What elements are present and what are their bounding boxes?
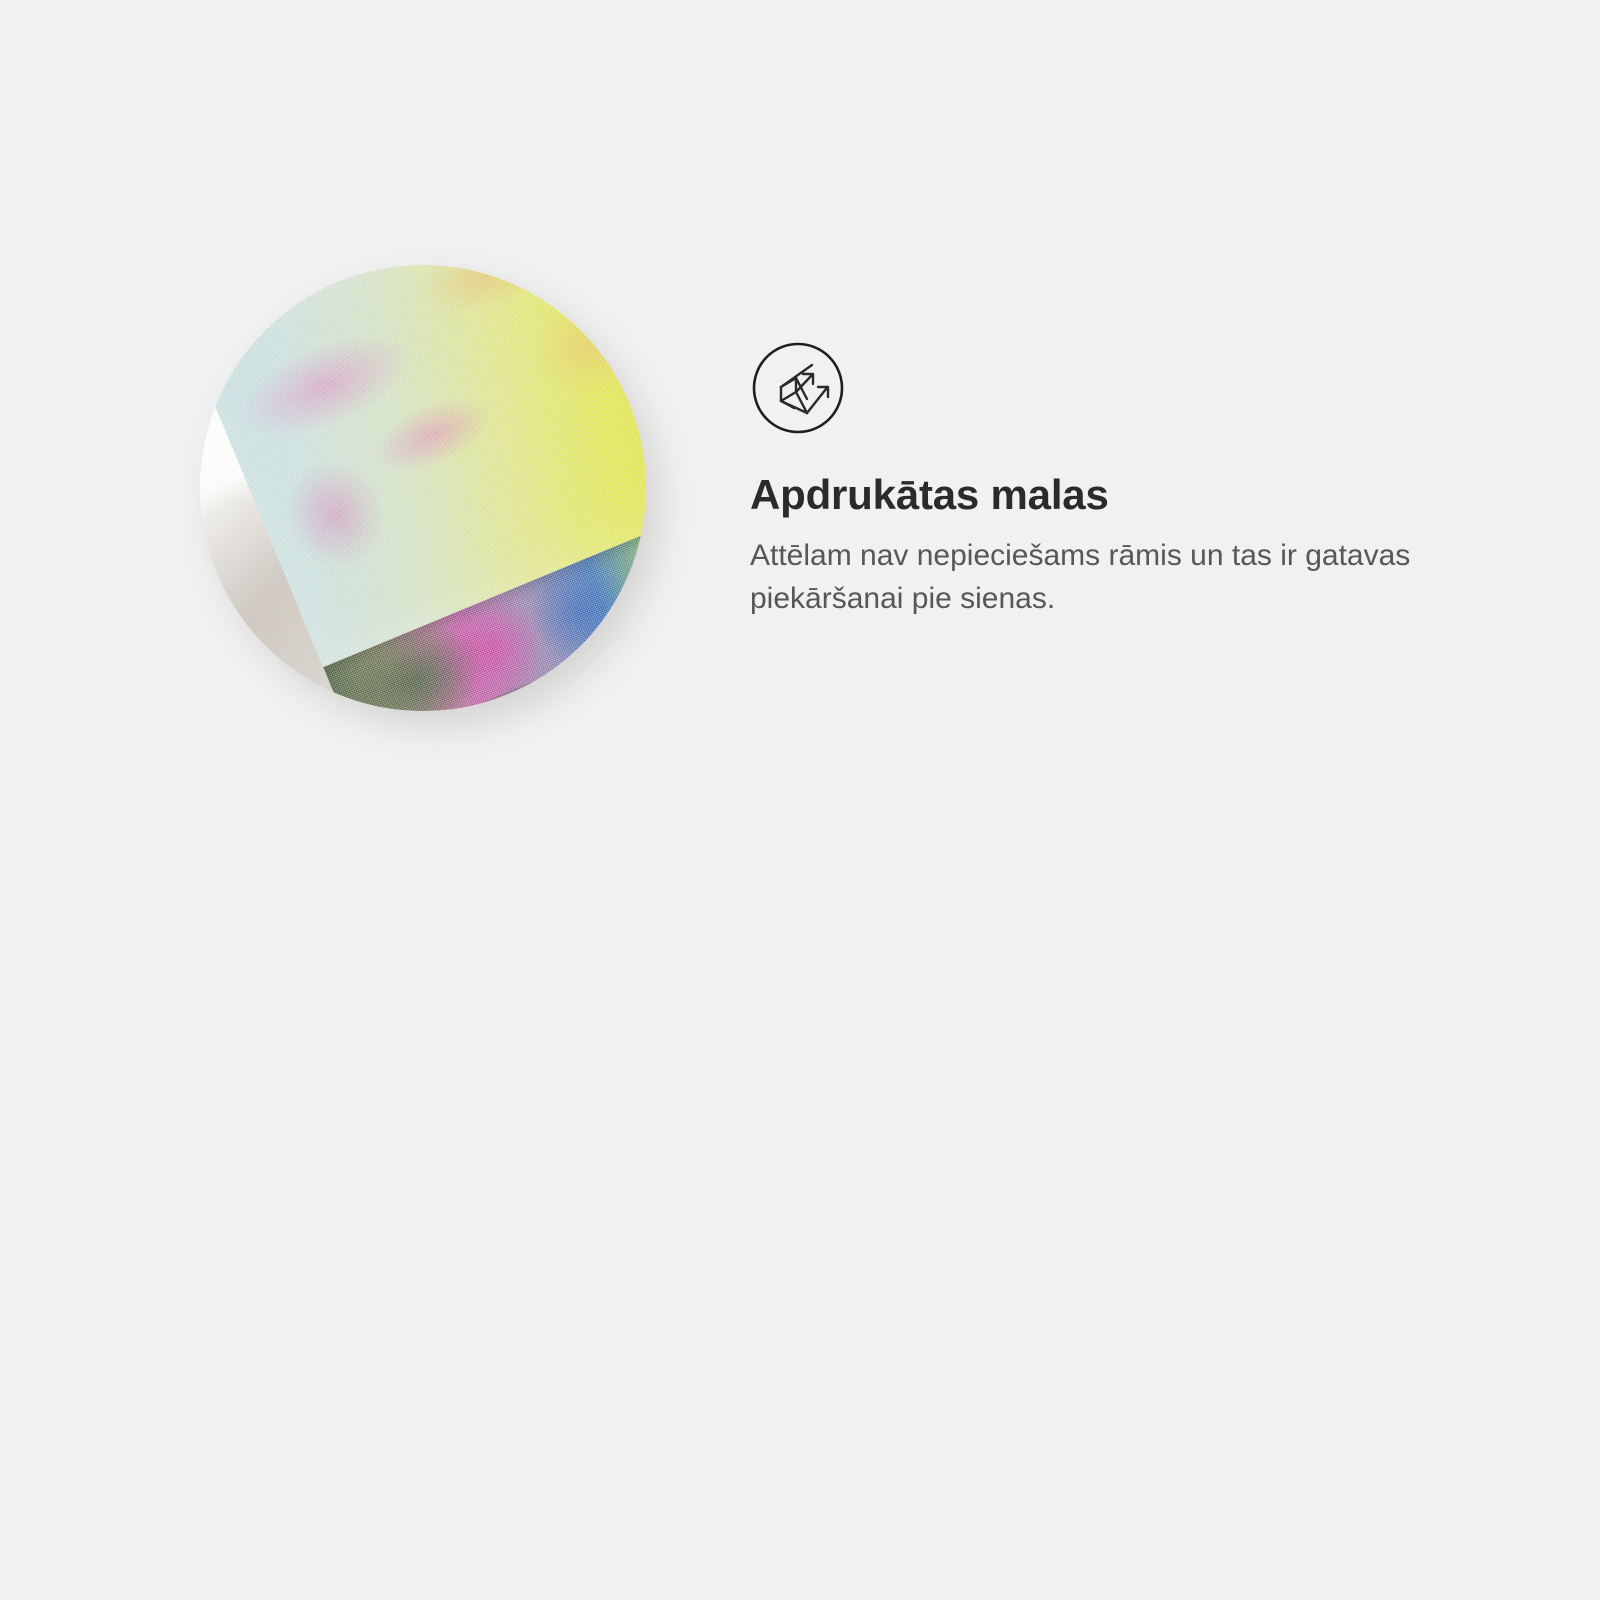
- feature-description: Attēlam nav nepieciešams rāmis un tas ir…: [750, 534, 1450, 620]
- wrapped-canvas-edge-icon: [750, 340, 846, 436]
- copy-printed-edges: Apdrukātas malas Attēlam nav nepieciešam…: [750, 340, 1490, 621]
- feature-eco-product: EKO produkts Mūsu ražošanas procesā tiek…: [0, 800, 1600, 1600]
- canvas-print-corner-photo: [200, 265, 646, 711]
- feature-title: Apdrukātas malas: [750, 472, 1490, 518]
- promo-features-page: Apdrukātas malas Attēlam nav nepieciešam…: [0, 0, 1600, 1600]
- feature-printed-edges: Apdrukātas malas Attēlam nav nepieciešam…: [0, 0, 1600, 800]
